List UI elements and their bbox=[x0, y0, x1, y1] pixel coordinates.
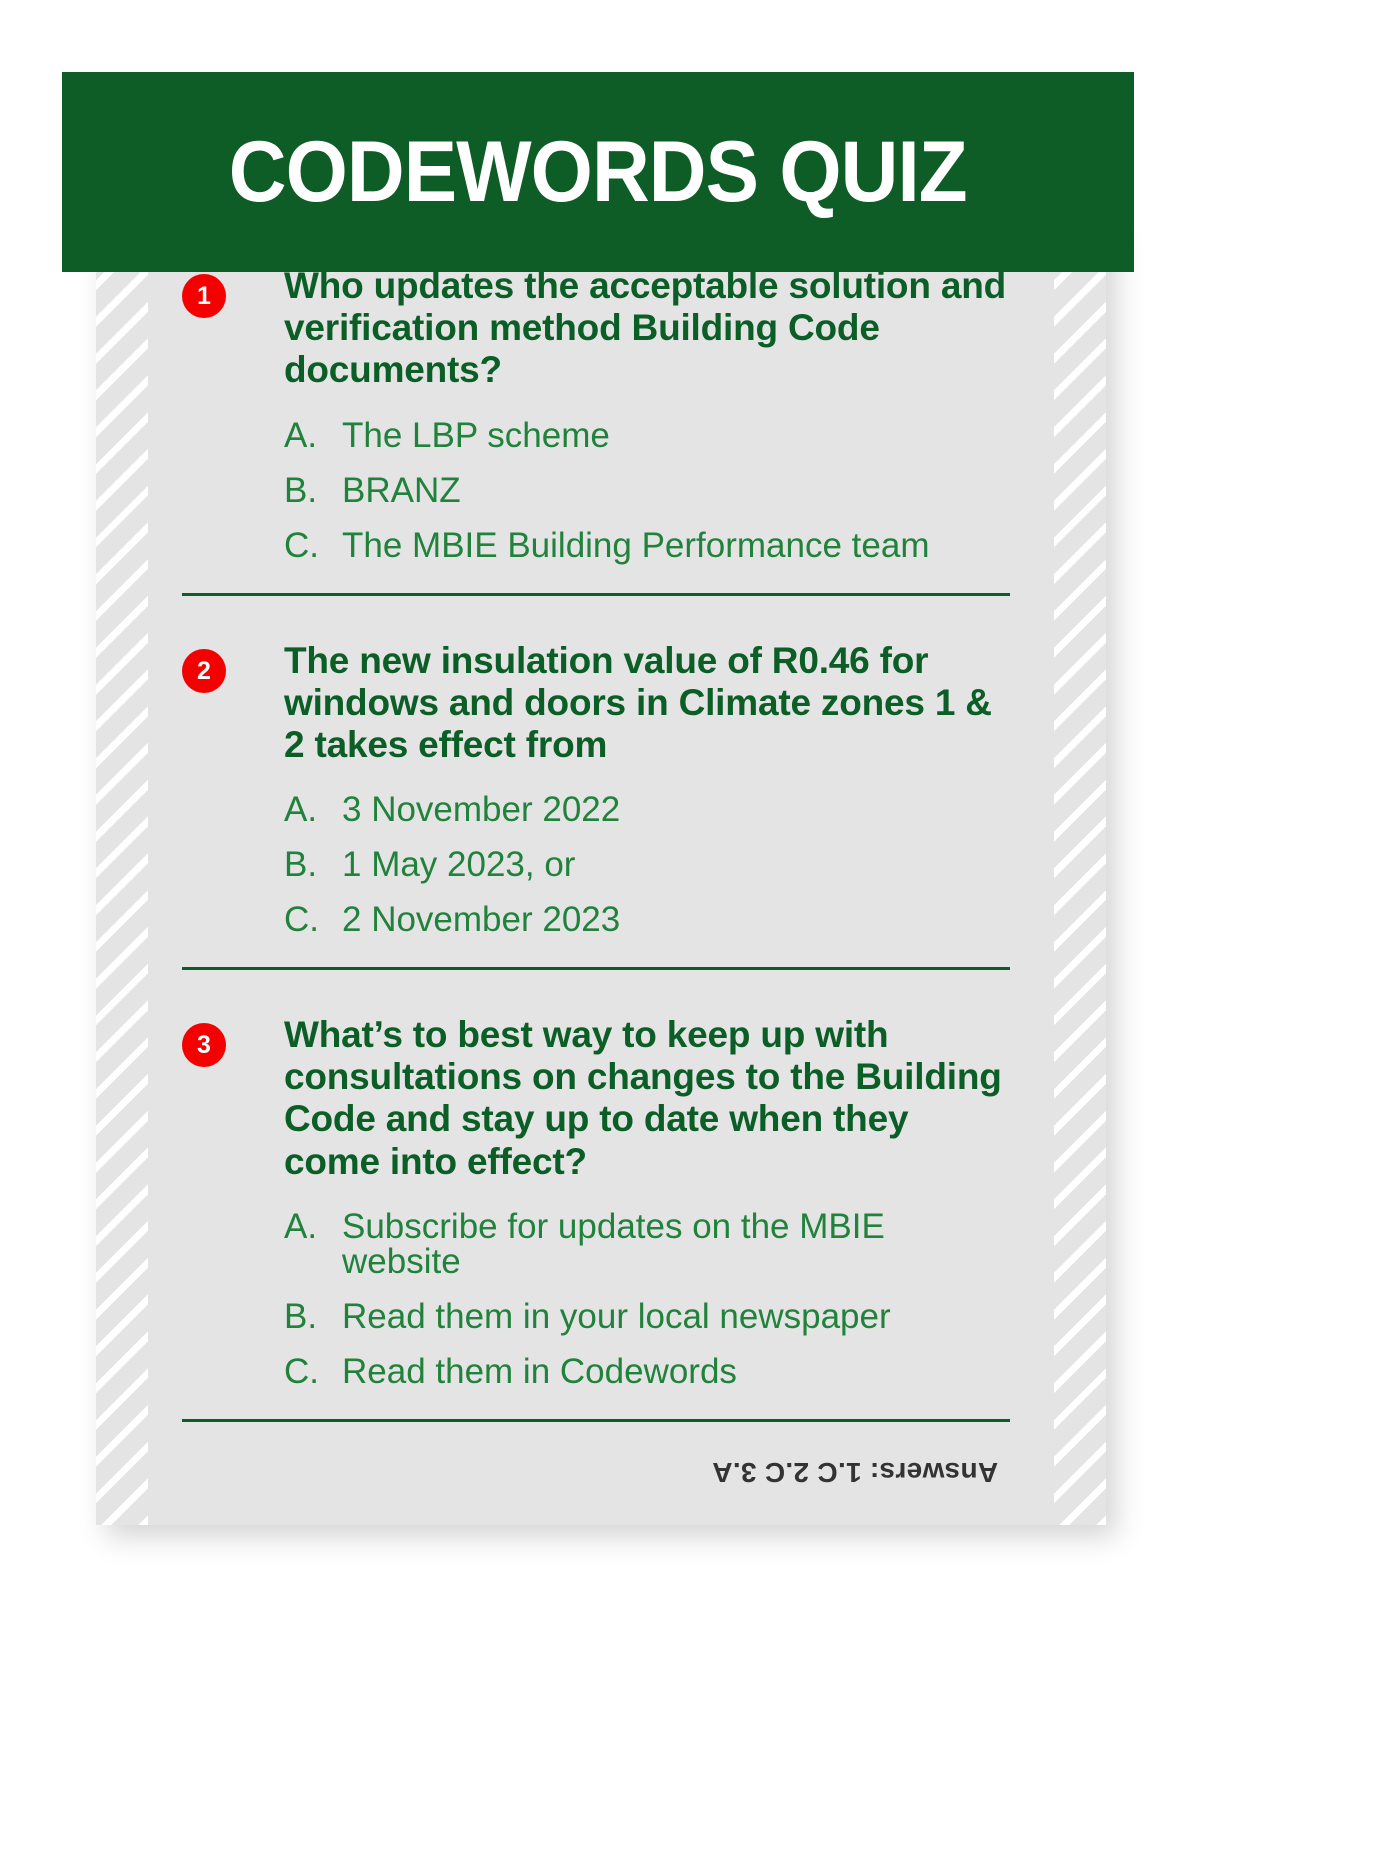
answer-option-key: C. bbox=[284, 1354, 342, 1389]
question-number-badge: 3 bbox=[182, 1023, 226, 1067]
codewords-quiz-page: CODEWORDS QUIZ 1 Who updates the accepta… bbox=[0, 0, 1400, 1855]
answer-option-label: The MBIE Building Performance team bbox=[342, 528, 1010, 563]
question-divider bbox=[182, 1419, 1010, 1422]
answer-option-key: A. bbox=[284, 792, 342, 827]
question-text: Who updates the acceptable solution and … bbox=[284, 265, 1010, 392]
answer-option-label: 1 May 2023, or bbox=[342, 847, 1010, 882]
answer-option-label: BRANZ bbox=[342, 473, 1010, 508]
answer-option-key: B. bbox=[284, 1299, 342, 1334]
answer-option[interactable]: C. Read them in Codewords bbox=[284, 1354, 1010, 1389]
answer-option-label: 3 November 2022 bbox=[342, 792, 1010, 827]
answer-option-label: Subscribe for updates on the MBIE websit… bbox=[342, 1209, 1010, 1279]
answer-options-list: A. The LBP scheme B. BRANZ C. The MBIE B… bbox=[284, 418, 1010, 563]
answer-key-text: Answers: 1.C 2.C 3.A bbox=[712, 1456, 998, 1488]
answer-option-key: B. bbox=[284, 473, 342, 508]
question-number-badge: 1 bbox=[182, 274, 226, 318]
question-number-badge: 2 bbox=[182, 649, 226, 693]
question-text: What’s to best way to keep up with consu… bbox=[284, 1014, 1010, 1183]
quiz-content: 1 Who updates the acceptable solution an… bbox=[182, 265, 1010, 1488]
answer-option[interactable]: B. 1 May 2023, or bbox=[284, 847, 1010, 882]
diagonal-stripe-band-left bbox=[96, 225, 148, 1525]
answer-option[interactable]: C. 2 November 2023 bbox=[284, 902, 1010, 937]
answer-option[interactable]: C. The MBIE Building Performance team bbox=[284, 528, 1010, 563]
page-title: CODEWORDS QUIZ bbox=[229, 129, 967, 215]
question-block-2: 2 The new insulation value of R0.46 for … bbox=[182, 640, 1010, 938]
answer-option[interactable]: B. Read them in your local newspaper bbox=[284, 1299, 1010, 1334]
answer-option-key: A. bbox=[284, 418, 342, 453]
answer-option-label: The LBP scheme bbox=[342, 418, 1010, 453]
answer-key-row: Answers: 1.C 2.C 3.A bbox=[182, 1456, 1010, 1488]
spacer bbox=[182, 596, 1010, 640]
question-block-3: 3 What’s to best way to keep up with con… bbox=[182, 1014, 1010, 1389]
question-text: The new insulation value of R0.46 for wi… bbox=[284, 640, 1010, 767]
answer-options-list: A. 3 November 2022 B. 1 May 2023, or C. … bbox=[284, 792, 1010, 937]
answer-option-key: B. bbox=[284, 847, 342, 882]
quiz-banner: CODEWORDS QUIZ bbox=[62, 72, 1134, 272]
answer-option-key: C. bbox=[284, 902, 342, 937]
answer-option[interactable]: A. 3 November 2022 bbox=[284, 792, 1010, 827]
answer-option[interactable]: A. The LBP scheme bbox=[284, 418, 1010, 453]
question-block-1: 1 Who updates the acceptable solution an… bbox=[182, 265, 1010, 563]
answer-option[interactable]: A. Subscribe for updates on the MBIE web… bbox=[284, 1209, 1010, 1279]
answer-option-label: 2 November 2023 bbox=[342, 902, 1010, 937]
answer-option[interactable]: B. BRANZ bbox=[284, 473, 1010, 508]
answer-option-label: Read them in Codewords bbox=[342, 1354, 1010, 1389]
answer-option-key: A. bbox=[284, 1209, 342, 1244]
answer-option-key: C. bbox=[284, 528, 342, 563]
spacer bbox=[182, 970, 1010, 1014]
answer-options-list: A. Subscribe for updates on the MBIE web… bbox=[284, 1209, 1010, 1389]
answer-option-label: Read them in your local newspaper bbox=[342, 1299, 1010, 1334]
diagonal-stripe-band-right bbox=[1054, 225, 1106, 1525]
